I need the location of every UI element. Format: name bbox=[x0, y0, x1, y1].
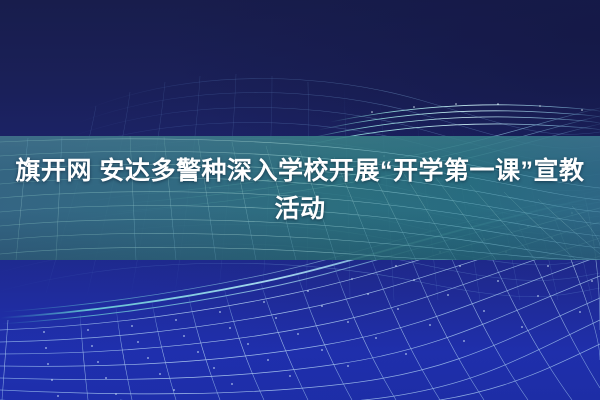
page-title: 旗开网 安达多警种深入学校开展“开学第一课”宣教活动 bbox=[0, 152, 600, 228]
banner-image: 旗开网 安达多警种深入学校开展“开学第一课”宣教活动 bbox=[0, 0, 600, 400]
